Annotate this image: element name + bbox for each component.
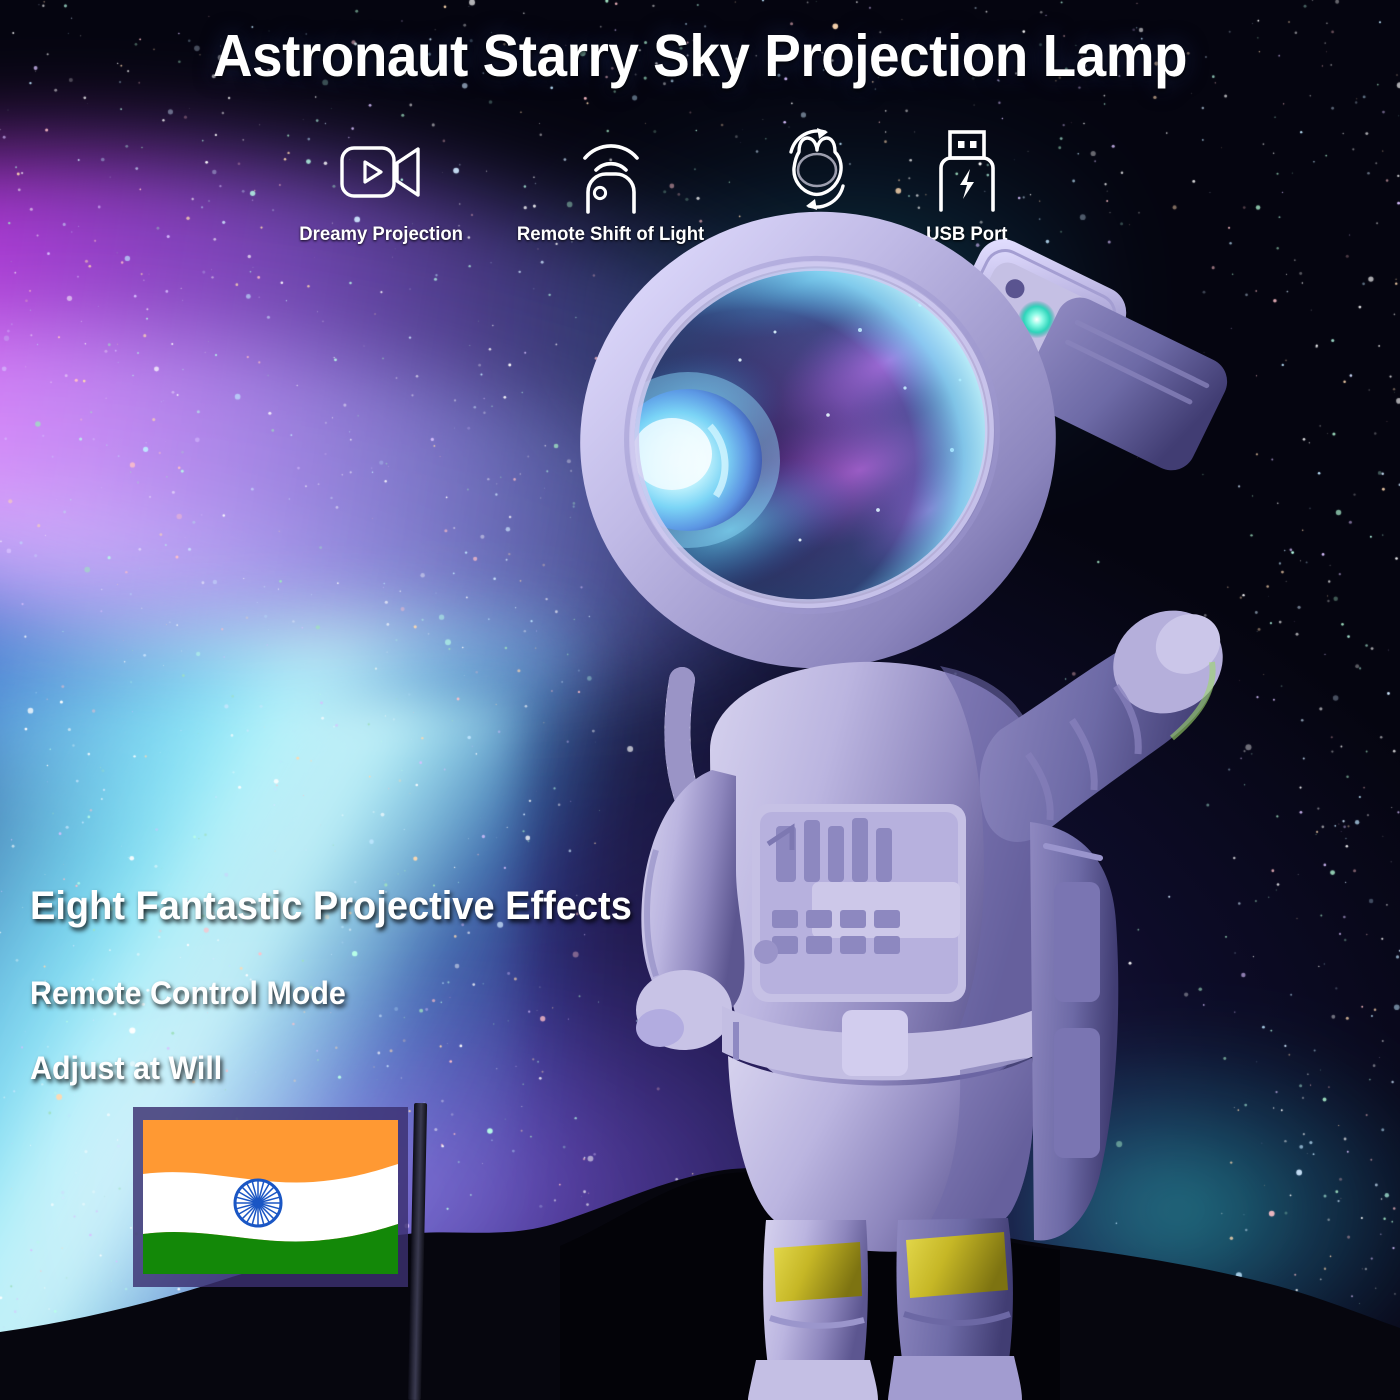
page-title: Astronaut Starry Sky Projection Lamp bbox=[49, 22, 1351, 90]
boot-band-left bbox=[774, 1242, 862, 1302]
copy-line-1: Eight Fantastic Projective Effects bbox=[30, 884, 695, 929]
feature-label: Dreamy Projection bbox=[299, 223, 463, 246]
india-flag bbox=[133, 1107, 433, 1400]
astronaut-projection-lamp bbox=[560, 210, 1260, 1400]
copy-line-3: Adjust at Will bbox=[30, 1050, 695, 1087]
video-projector-icon bbox=[339, 125, 423, 217]
feature-item-dreamy-projection[interactable]: Dreamy Projection bbox=[295, 125, 467, 246]
marketing-copy: Eight Fantastic Projective Effects Remot… bbox=[30, 884, 730, 1087]
chest-control-panel bbox=[752, 804, 966, 1002]
flag-pole bbox=[408, 1103, 427, 1400]
rotation-head-icon bbox=[771, 125, 863, 217]
usb-plug-icon bbox=[933, 125, 1001, 217]
boots bbox=[748, 1356, 1022, 1400]
boot-band-right bbox=[906, 1232, 1008, 1298]
copy-line-2: Remote Control Mode bbox=[30, 975, 695, 1012]
india-flag-svg bbox=[143, 1120, 398, 1274]
remote-signal-icon bbox=[571, 125, 651, 217]
flag-panel bbox=[133, 1107, 408, 1287]
ashoka-chakra bbox=[235, 1180, 281, 1226]
product-poster: Astronaut Starry Sky Projection Lamp Dre… bbox=[0, 0, 1400, 1400]
backpack bbox=[1030, 822, 1118, 1240]
